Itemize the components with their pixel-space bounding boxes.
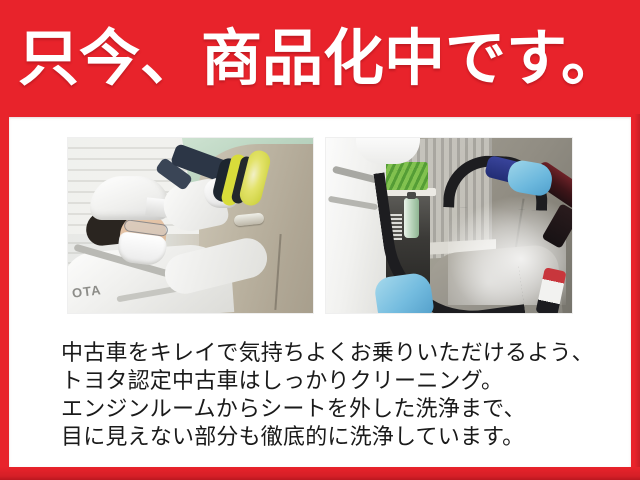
copy-line-2: トヨタ認定中古車はしっかりクリーニング。 — [61, 368, 606, 396]
photo-strip: OTA — [68, 138, 572, 313]
content-card: OTA — [9, 117, 631, 467]
body-copy: 中古車をキレイで気持ちよくお乗りいただけるよう、 トヨタ認定中古車はしっかりクリ… — [61, 340, 606, 452]
polishing-photo: OTA — [68, 138, 313, 313]
copy-line-3: エンジンルームからシートを外した洗浄まで、 — [61, 396, 606, 424]
page-title: 只今、商品化中です。 — [18, 28, 622, 89]
border-left — [0, 114, 9, 480]
border-bottom — [0, 467, 640, 480]
copy-line-1: 中古車をキレイで気持ちよくお乗りいただけるよう、 — [61, 340, 606, 368]
copy-line-4: 目に見えない部分も徹底的に洗浄しています。 — [61, 424, 606, 452]
border-right — [631, 114, 640, 480]
banner-header: 只今、商品化中です。 — [0, 0, 640, 114]
steam-cleaning-photo — [326, 138, 572, 313]
promo-banner: 只今、商品化中です。 — [0, 0, 640, 480]
